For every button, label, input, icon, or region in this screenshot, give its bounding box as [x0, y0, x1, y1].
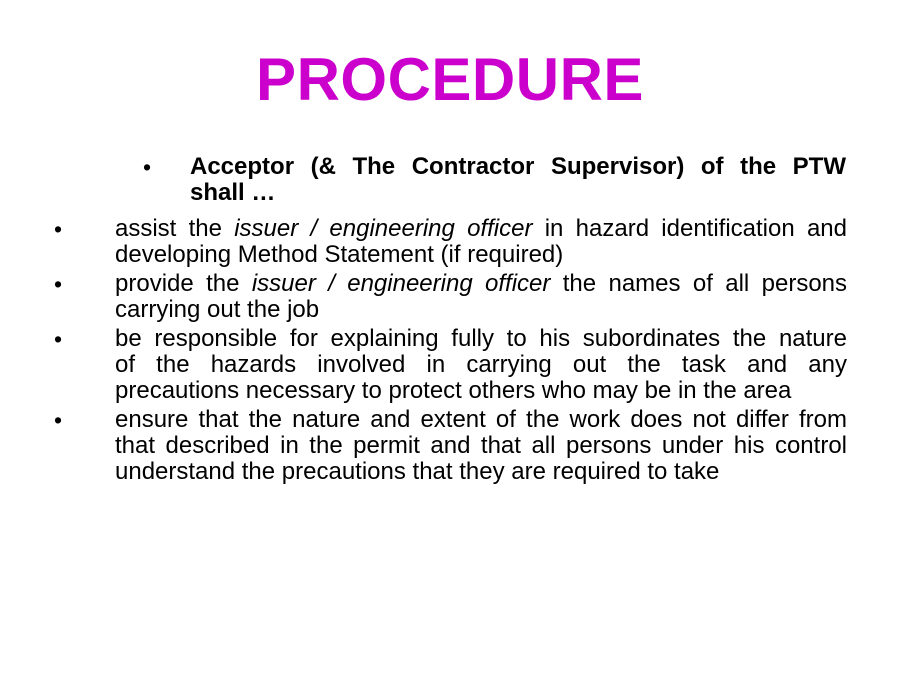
plain-text: Acceptor (& The Contractor Supervisor) o… — [190, 153, 846, 180]
plain-text: the names of all persons — [550, 270, 847, 297]
bullet-line: be responsible for explaining fully to h… — [115, 326, 847, 352]
bullet-line: of the hazards involved in carrying out … — [115, 352, 847, 378]
bullet-line: precautions necessary to protect others … — [115, 378, 847, 404]
bullet-text: provide the issuer / engineering officer… — [115, 271, 847, 323]
bullet-item: •Acceptor (& The Contractor Supervisor) … — [0, 154, 900, 206]
bullet-line: provide the issuer / engineering officer… — [115, 271, 847, 297]
bullet-text: ensure that the nature and extent of the… — [115, 407, 847, 485]
emphasis-text: issuer / engineering officer — [234, 215, 532, 242]
bullet-text: assist the issuer / engineering officer … — [115, 216, 847, 268]
bullet-line: shall … — [190, 180, 846, 206]
plain-text: understand the precautions that they are… — [115, 458, 719, 485]
bullet-list: •Acceptor (& The Contractor Supervisor) … — [0, 154, 900, 488]
bullet-text: Acceptor (& The Contractor Supervisor) o… — [190, 154, 846, 206]
page-title: PROCEDURE — [0, 48, 900, 112]
bullet-item: •be responsible for explaining fully to … — [0, 326, 900, 404]
plain-text: provide the — [115, 270, 252, 297]
bullet-marker-icon: • — [143, 154, 151, 180]
bullet-text: be responsible for explaining fully to h… — [115, 326, 847, 404]
plain-text: of the hazards involved in carrying out … — [115, 351, 847, 378]
plain-text: assist the — [115, 215, 234, 242]
bullet-line: understand the precautions that they are… — [115, 459, 847, 485]
plain-text: developing Method Statement (if required… — [115, 241, 563, 268]
plain-text: carrying out the job — [115, 296, 319, 323]
bullet-line: carrying out the job — [115, 297, 847, 323]
bullet-item: •assist the issuer / engineering officer… — [0, 216, 900, 268]
bullet-line: that described in the permit and that al… — [115, 433, 847, 459]
plain-text: be responsible for explaining fully to h… — [115, 325, 847, 352]
bullet-marker-icon: • — [54, 326, 62, 352]
bullet-line: assist the issuer / engineering officer … — [115, 216, 847, 242]
bullet-line: developing Method Statement (if required… — [115, 242, 847, 268]
emphasis-text: issuer / engineering officer — [252, 270, 551, 297]
bullet-marker-icon: • — [54, 271, 62, 297]
slide-canvas: PROCEDURE •Acceptor (& The Contractor Su… — [0, 0, 900, 675]
bullet-line: ensure that the nature and extent of the… — [115, 407, 847, 433]
bullet-marker-icon: • — [54, 407, 62, 433]
plain-text: shall … — [190, 179, 275, 206]
bullet-item: •ensure that the nature and extent of th… — [0, 407, 900, 485]
plain-text: in hazard identification and — [532, 215, 847, 242]
bullet-marker-icon: • — [54, 216, 62, 242]
plain-text: precautions necessary to protect others … — [115, 377, 791, 404]
plain-text: ensure that the nature and extent of the… — [115, 406, 847, 433]
plain-text: that described in the permit and that al… — [115, 432, 847, 459]
bullet-item: •provide the issuer / engineering office… — [0, 271, 900, 323]
bullet-line: Acceptor (& The Contractor Supervisor) o… — [190, 154, 846, 180]
